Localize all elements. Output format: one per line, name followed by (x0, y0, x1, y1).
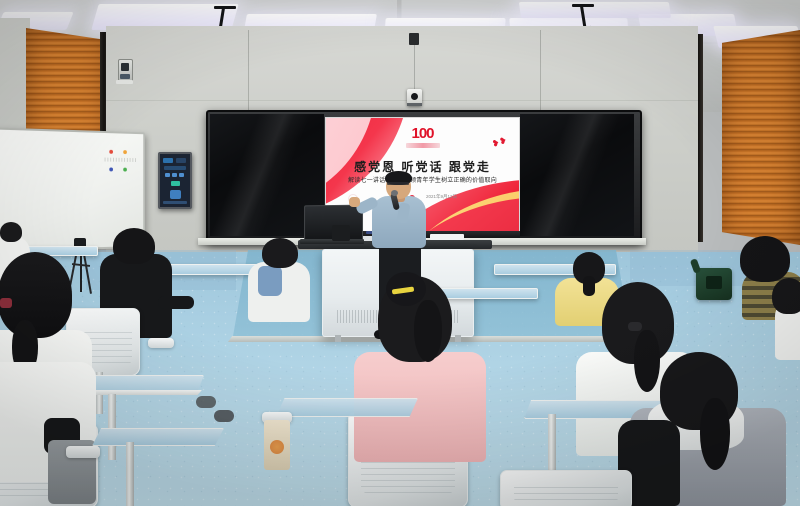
microphone-head (391, 190, 398, 196)
laptop-dock (332, 225, 350, 241)
student-s5-arm (158, 296, 194, 309)
desk-front-center (276, 398, 418, 417)
whiteboard-magnet-blue (109, 167, 113, 171)
student-s10-hair (740, 236, 790, 282)
control-panel-active-button[interactable] (171, 181, 180, 186)
student-s4-hairband (0, 298, 12, 308)
right-panel-sheen (520, 114, 634, 236)
platform-right-extension (630, 250, 750, 286)
control-panel-tab-1[interactable] (163, 158, 173, 163)
ceiling-light-8 (519, 2, 671, 18)
student-s4-hair (0, 252, 72, 338)
classroom-photo: 100 ❥❥ 感党恩 听党话 跟党走 解读七一讲话精神，引领青年学生树立正确的价… (0, 0, 800, 506)
chair-arm-front-left (66, 446, 100, 458)
student-s9-ponytail (583, 276, 595, 296)
ceiling-ptz-camera (407, 89, 422, 106)
student-s8-collar (258, 266, 282, 296)
student-s2-ponytail (414, 300, 442, 362)
tote-bag-graphic (270, 440, 284, 454)
chair-front-right[interactable] (500, 470, 632, 506)
wall-camera-base (116, 80, 133, 84)
student-s8-hair (262, 238, 298, 268)
control-panel-button-2[interactable] (172, 173, 177, 177)
podium-foot-right (455, 335, 461, 342)
student-s6-ponytail (634, 330, 660, 392)
wall-control-panel[interactable] (158, 152, 192, 209)
anniversary-logo: 100 (411, 126, 433, 141)
slide-subtitle: 解读七一讲话精神，引领青年学生树立正确的价值取向 (326, 175, 519, 184)
podium-foot-left (335, 335, 341, 342)
speaker-hand-gesture (349, 197, 360, 207)
anniversary-logo-caption (406, 143, 440, 148)
floor-shoe-right (214, 410, 234, 422)
control-panel-footer (163, 201, 187, 204)
control-panel-display-icon[interactable] (170, 190, 181, 199)
control-panel-bar (164, 166, 186, 170)
slide-birds-icon: ❥❥ (491, 136, 508, 149)
podium-paper-3 (430, 234, 464, 240)
back-wall-seam-3 (106, 100, 698, 101)
backpack-pocket (706, 276, 722, 289)
ceiling-camera-mount (409, 33, 419, 45)
whiteboard-magnet-green (123, 168, 127, 172)
control-panel-tab-2[interactable] (176, 158, 186, 163)
ceiling-camera-pole (414, 45, 415, 89)
whiteboard-magnet-red (109, 150, 113, 154)
student-s3-ponytail (700, 398, 730, 470)
ceiling-bracket-left-top (214, 6, 236, 9)
desk-front-left (92, 428, 224, 446)
right-slat-wall (722, 30, 800, 245)
floor-shoe-left (196, 396, 216, 408)
desk-mid-right-leg (548, 414, 556, 470)
whiteboard-magnet-orange (123, 150, 127, 154)
ceiling-bracket-right-top (572, 4, 594, 7)
slide-date: 2021年9月12日 (426, 194, 457, 200)
desk-mid-left-leg (108, 394, 116, 460)
student-s11-hair (772, 278, 800, 314)
student-s6-hairband (628, 322, 642, 331)
control-panel-button-1[interactable] (165, 173, 170, 177)
student-s7-hair (0, 222, 22, 242)
whiteboard-note (105, 158, 136, 162)
slide-title: 感党恩 听党话 跟党走 (326, 158, 519, 175)
control-panel-button-3[interactable] (179, 173, 184, 177)
chair-arm-mid-left (148, 338, 174, 348)
desk-front-left-leg (126, 442, 134, 506)
speaker-glasses (387, 182, 409, 185)
student-s5-hair (113, 228, 155, 264)
